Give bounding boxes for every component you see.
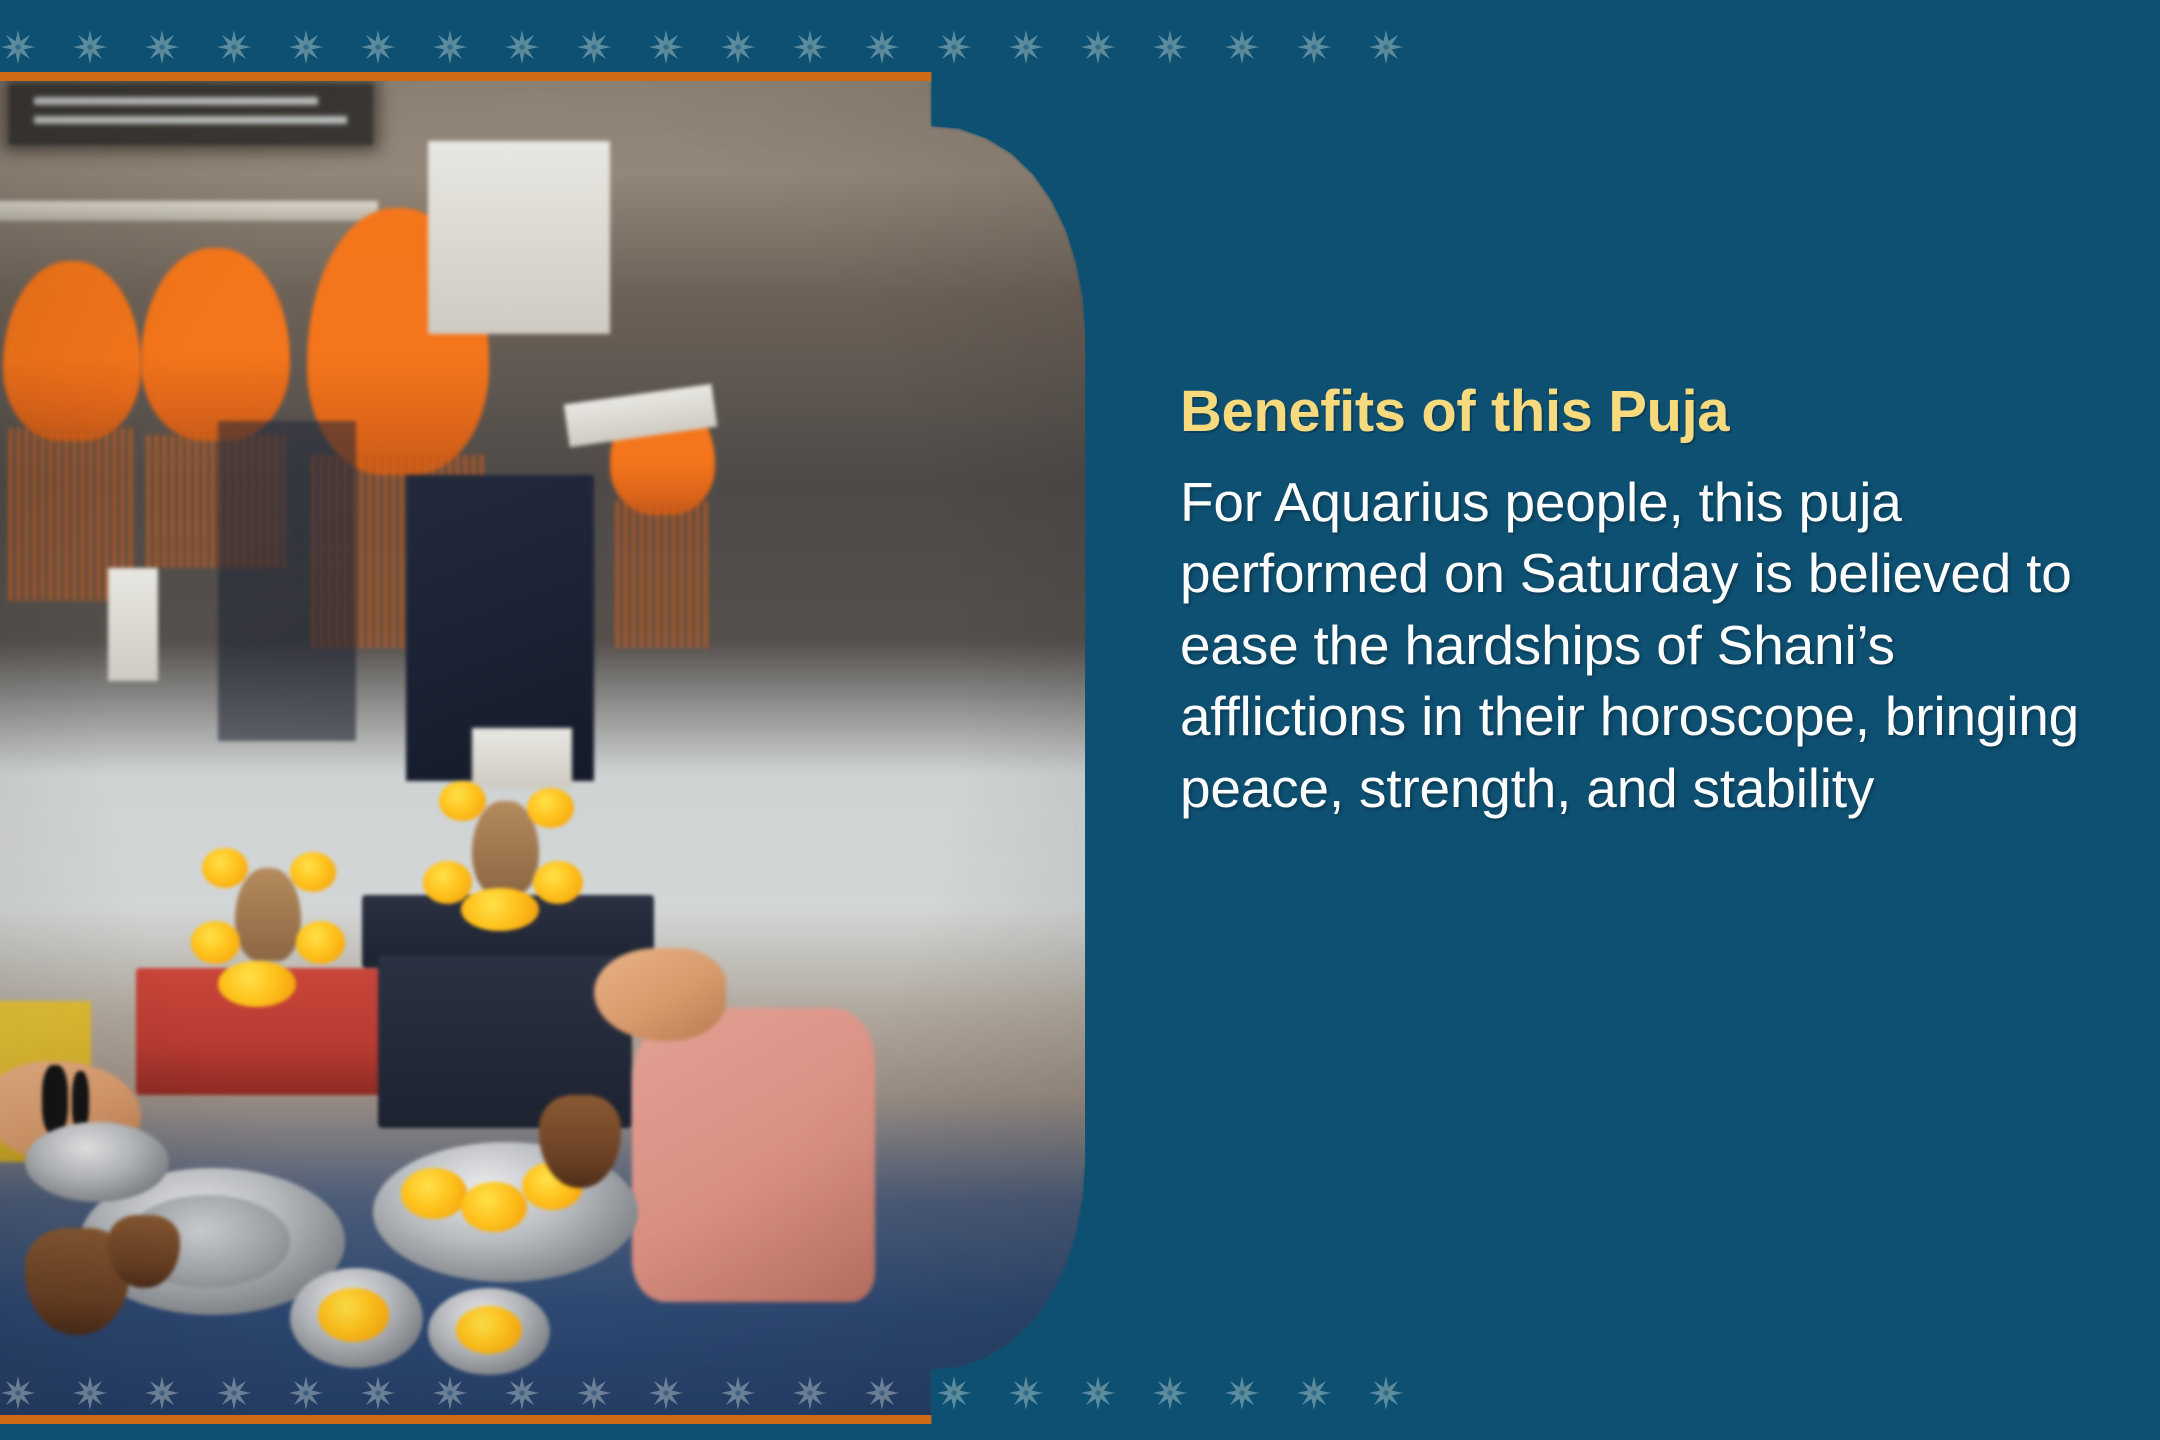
priest-pink-cloth	[632, 1008, 875, 1301]
marigold-flower	[423, 861, 473, 904]
panel-plate	[472, 728, 571, 788]
eight-point-star-icon	[504, 29, 540, 65]
deity-figure	[141, 248, 290, 441]
marigold-flower	[456, 1306, 522, 1354]
wrist-bracelet	[42, 1065, 68, 1134]
photo-content	[0, 81, 1085, 1415]
eight-point-star-icon	[288, 29, 324, 65]
marigold-flower	[318, 1288, 390, 1341]
eight-point-star-icon	[792, 29, 828, 65]
marigold-flower	[533, 861, 583, 904]
eight-point-star-icon	[936, 29, 972, 65]
eight-point-star-icon	[1296, 1375, 1332, 1411]
eight-point-star-icon	[144, 29, 180, 65]
wall-notice-board	[428, 141, 610, 334]
eight-point-star-icon	[1008, 29, 1044, 65]
eight-point-star-icon	[360, 29, 396, 65]
marigold-flower	[527, 788, 573, 828]
puja-ceremony-photo	[0, 72, 1094, 1424]
marigold-flower	[218, 961, 295, 1006]
eight-point-star-icon	[864, 29, 900, 65]
eight-point-star-icon	[648, 29, 684, 65]
dark-wall-panel	[218, 421, 356, 741]
eight-point-star-icon	[936, 1375, 972, 1411]
wall-plaque	[9, 84, 373, 145]
marigold-flower	[401, 1168, 467, 1219]
marigold-flower	[191, 921, 241, 964]
text-column: Benefits of this Puja For Aquarius peopl…	[1180, 380, 2110, 824]
eight-point-star-icon	[576, 29, 612, 65]
eight-point-star-icon	[1152, 29, 1188, 65]
marigold-flower	[461, 888, 538, 931]
eight-point-star-icon	[216, 29, 252, 65]
marigold-flower	[202, 848, 248, 888]
eight-point-star-icon	[1368, 1375, 1404, 1411]
ornament-band-top	[0, 12, 2160, 82]
eight-point-star-icon	[72, 29, 108, 65]
eight-point-star-icon	[720, 29, 756, 65]
eight-point-star-icon	[1080, 29, 1116, 65]
eight-point-star-icon	[432, 29, 468, 65]
offering-thali	[25, 1122, 169, 1202]
eight-point-star-icon	[1368, 29, 1404, 65]
eight-point-star-icon	[1224, 1375, 1260, 1411]
eight-point-star-icon	[1296, 29, 1332, 65]
eight-point-star-icon	[1224, 29, 1260, 65]
page-title: Benefits of this Puja	[1180, 380, 2110, 445]
eight-point-star-icon	[1080, 1375, 1116, 1411]
benefits-description: For Aquarius people, this puja performed…	[1180, 467, 2110, 825]
deity-garland-drip	[616, 501, 710, 648]
marigold-flower	[439, 781, 485, 821]
eight-point-star-icon	[0, 29, 36, 65]
wall-paper	[108, 568, 158, 681]
idol	[235, 868, 301, 961]
marigold-flower	[290, 852, 336, 892]
eight-point-star-icon	[1008, 1375, 1044, 1411]
marigold-flower	[296, 921, 346, 964]
slide-canvas: Benefits of this Puja For Aquarius peopl…	[0, 0, 2160, 1440]
eight-point-star-icon	[1152, 1375, 1188, 1411]
stone-ledge	[0, 201, 378, 221]
deity-figure	[3, 261, 141, 441]
